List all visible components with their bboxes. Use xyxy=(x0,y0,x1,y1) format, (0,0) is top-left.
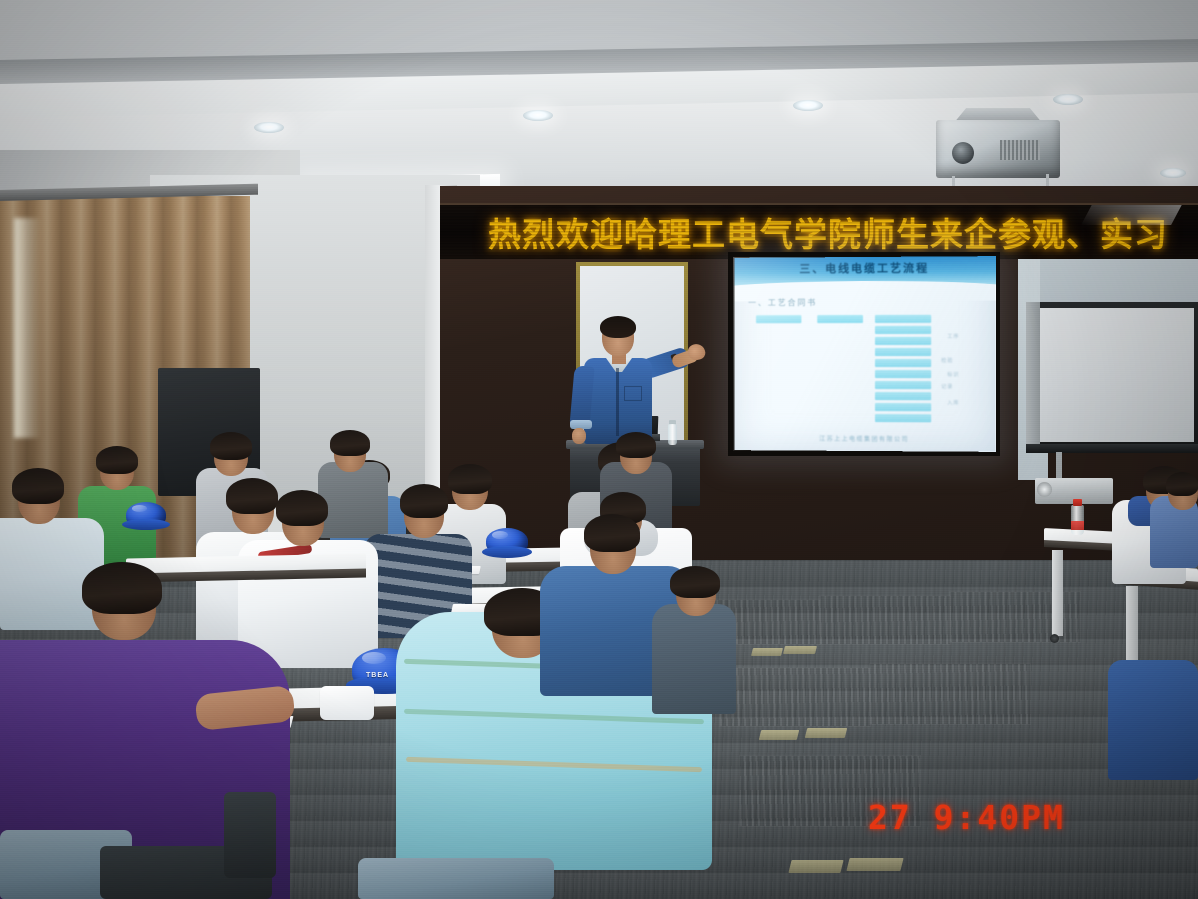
student-hair xyxy=(616,432,656,458)
carpet-tile xyxy=(820,596,950,644)
student-hair xyxy=(12,468,64,504)
welcome-led-banner: 热烈欢迎哈理工电气学院师生来企参观、实习 xyxy=(440,203,1198,259)
carpet-accent-tile xyxy=(805,728,847,738)
lecture-hall-photo: 热烈欢迎哈理工电气学院师生来企参观、实习 三、电线电缆工艺流程 一、工艺合同书 xyxy=(0,0,1198,899)
student-body xyxy=(318,462,388,538)
window-light-gap xyxy=(14,218,40,438)
presenter-hair xyxy=(600,316,636,338)
interactive-whiteboard-side-rail xyxy=(1026,302,1040,448)
carpet-accent-tile xyxy=(751,648,783,656)
downlight-2 xyxy=(523,110,553,121)
slide-box xyxy=(875,348,931,356)
hardhat-front-gloss xyxy=(362,652,386,664)
presenter-shirt-placket xyxy=(616,368,619,436)
student-hair xyxy=(82,562,162,614)
short-throw-projector-arm xyxy=(1056,452,1062,480)
welcome-led-banner-text: 热烈欢迎哈理工电气学院师生来企参观、实习 xyxy=(440,208,1168,256)
water-bottle-label xyxy=(1071,521,1084,530)
slide-column-middle xyxy=(817,315,863,323)
presenter-shirt-pocket xyxy=(624,386,642,401)
chair-frame xyxy=(224,792,276,878)
hardhat-midleft-brim xyxy=(122,519,170,530)
carpet-accent-tile xyxy=(788,860,843,873)
slide-box xyxy=(756,315,801,323)
slide-column-left xyxy=(756,315,801,323)
projector-lens xyxy=(952,142,974,164)
slide-box xyxy=(875,359,931,367)
table-caster xyxy=(1050,634,1059,643)
downlight-4 xyxy=(1053,94,1083,105)
folded-cloth xyxy=(320,686,374,720)
student-hair xyxy=(330,430,370,456)
slide-box xyxy=(875,392,931,400)
projector-vent xyxy=(1000,140,1040,160)
slide-side-note-4: 记录 xyxy=(941,383,953,390)
slide-box xyxy=(875,403,931,411)
student-body xyxy=(652,604,736,714)
downlight-1 xyxy=(254,122,284,133)
led-glare xyxy=(1081,203,1185,225)
student-hair xyxy=(96,446,138,474)
carpet-accent-tile xyxy=(846,858,903,871)
interactive-whiteboard xyxy=(1026,302,1198,448)
slide-box xyxy=(875,370,931,378)
slide-side-note-1: 工序 xyxy=(947,333,959,340)
student-hair xyxy=(400,484,448,518)
carpet-tile xyxy=(870,664,1030,724)
slide-side-note-2: 检验 xyxy=(941,357,953,364)
water-bottle xyxy=(1071,505,1084,535)
slide-box xyxy=(875,414,931,422)
student-hair xyxy=(210,432,252,460)
student-hair xyxy=(1166,472,1198,496)
presenter-left-hand xyxy=(572,428,586,444)
interactive-whiteboard-bottom-tray xyxy=(1026,444,1198,453)
slide-subtitle: 一、工艺合同书 xyxy=(748,297,817,308)
slide-side-note-5: 入库 xyxy=(947,399,959,406)
student-hair xyxy=(226,478,278,514)
student-hair xyxy=(448,464,492,494)
hardhat-midleft-gloss xyxy=(132,505,147,512)
projection-screen: 三、电线电缆工艺流程 一、工艺合同书 工序 检验 标识 记录 入库 江苏上上电缆… xyxy=(734,256,996,452)
slide-title: 三、电线电缆工艺流程 xyxy=(734,259,996,277)
chair-back xyxy=(358,858,554,899)
slide-box xyxy=(875,381,931,389)
student-body xyxy=(1108,660,1198,780)
downlight-3 xyxy=(793,100,823,111)
hardhat-midright-brim xyxy=(482,546,532,558)
slide-footer: 江苏上上电缆集团有限公司 xyxy=(734,433,996,444)
carpet-accent-tile xyxy=(759,730,799,740)
slide-box xyxy=(817,315,863,323)
downlight-5 xyxy=(1160,168,1186,178)
slide-box xyxy=(875,337,931,345)
student-hair xyxy=(584,514,640,552)
lectern-water-bottle xyxy=(668,424,677,445)
hardhat-midright-gloss xyxy=(492,531,508,539)
camera-date-stamp: 27 9:40PM xyxy=(868,798,1065,837)
slide-box xyxy=(875,326,931,334)
carpet-accent-tile xyxy=(783,646,817,654)
interactive-whiteboard-surface xyxy=(1030,308,1194,442)
carpet-tile xyxy=(720,668,870,726)
slide-side-note-3: 标识 xyxy=(947,371,959,378)
student-hair xyxy=(276,490,328,526)
slide-box xyxy=(875,315,931,323)
table-leg xyxy=(1052,550,1063,636)
short-throw-projector-lens xyxy=(1037,482,1052,497)
hardhat-front-label: TBEA xyxy=(366,672,389,679)
slide-column-flow xyxy=(875,315,931,422)
student-hair xyxy=(670,566,720,598)
water-bottle-cap xyxy=(1073,499,1082,506)
